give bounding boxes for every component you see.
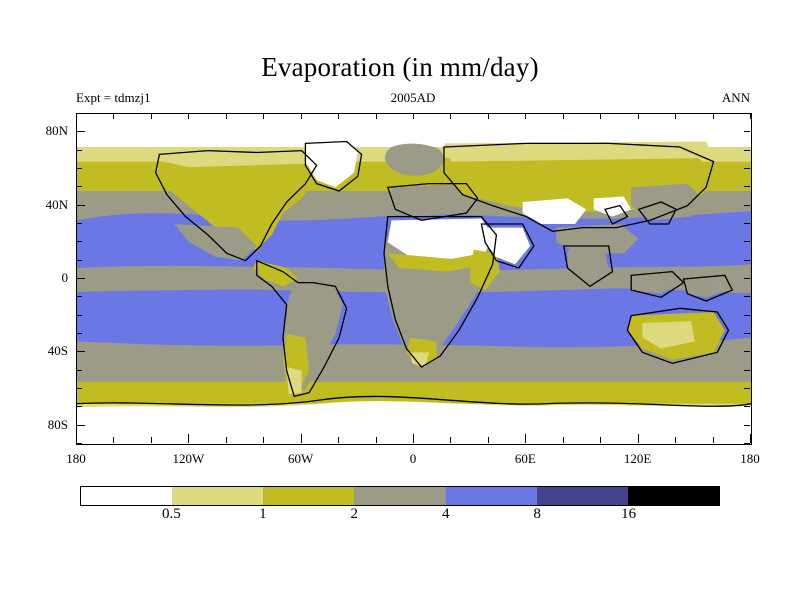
x-minor-tick	[113, 113, 114, 119]
x-minor-tick	[563, 113, 564, 119]
y-minor-tick	[744, 315, 750, 316]
y-minor-tick	[76, 186, 82, 187]
x-minor-tick	[226, 437, 227, 443]
y-minor-tick	[744, 406, 750, 407]
antarctica-fill	[77, 401, 751, 444]
colorbar-band[interactable]	[172, 487, 263, 505]
colorbar-tick-label: 0.5	[162, 506, 181, 523]
y-minor-tick	[744, 186, 750, 187]
y-axis-label: 0	[62, 270, 69, 286]
x-minor-tick	[338, 113, 339, 119]
y-minor-tick	[76, 388, 82, 389]
colorbar-band[interactable]	[263, 487, 354, 505]
map-plot-area	[76, 113, 752, 445]
season-label: ANN	[722, 90, 750, 106]
y-axis-label: 40S	[48, 343, 68, 359]
y-minor-tick	[76, 113, 82, 114]
y-major-tick	[76, 205, 85, 206]
y-minor-tick	[76, 223, 82, 224]
x-major-tick	[638, 434, 639, 443]
x-axis-label: 60E	[515, 451, 536, 467]
colorbar-band[interactable]	[537, 487, 628, 505]
x-axis-label: 120E	[624, 451, 651, 467]
y-minor-tick	[744, 296, 750, 297]
x-axis-label: 120W	[172, 451, 204, 467]
x-minor-tick	[151, 437, 152, 443]
y-minor-tick	[76, 370, 82, 371]
x-major-tick	[76, 434, 77, 443]
y-minor-tick	[744, 131, 750, 132]
y-minor-tick	[76, 260, 82, 261]
x-minor-tick	[188, 113, 189, 119]
y-minor-tick	[744, 150, 750, 151]
y-minor-tick	[744, 241, 750, 242]
colorbar-band[interactable]	[81, 487, 172, 505]
y-axis-label: 40N	[46, 197, 68, 213]
y-minor-tick	[76, 168, 82, 169]
y-minor-tick	[744, 223, 750, 224]
patagonia-fill	[287, 367, 302, 395]
y-minor-tick	[744, 205, 750, 206]
y-minor-tick	[744, 388, 750, 389]
x-axis-label: 60W	[288, 451, 313, 467]
y-minor-tick	[744, 425, 750, 426]
x-minor-tick	[750, 113, 751, 119]
x-minor-tick	[376, 437, 377, 443]
x-minor-tick	[263, 113, 264, 119]
x-minor-tick	[450, 113, 451, 119]
x-minor-tick	[413, 113, 414, 119]
y-minor-tick	[744, 278, 750, 279]
y-minor-tick	[76, 443, 82, 444]
colorbar[interactable]	[80, 486, 720, 506]
x-minor-tick	[450, 437, 451, 443]
y-minor-tick	[744, 443, 750, 444]
figure-root: Evaporation (in mm/day) Expt = tdmzj1 20…	[0, 0, 800, 600]
y-minor-tick	[744, 370, 750, 371]
x-minor-tick	[600, 113, 601, 119]
colorbar-tick-label: 4	[442, 506, 450, 523]
y-major-tick	[76, 425, 85, 426]
map-canvas	[77, 114, 751, 444]
y-major-tick	[76, 278, 85, 279]
colorbar-tick-label: 2	[351, 506, 359, 523]
x-minor-tick	[563, 437, 564, 443]
y-major-tick	[76, 131, 85, 132]
y-minor-tick	[744, 351, 750, 352]
x-minor-tick	[488, 437, 489, 443]
colorbar-tick-label: 16	[621, 506, 636, 523]
evaporation-map-svg	[77, 114, 751, 444]
x-minor-tick	[713, 113, 714, 119]
y-minor-tick	[744, 113, 750, 114]
y-minor-tick	[76, 406, 82, 407]
x-minor-tick	[113, 437, 114, 443]
y-minor-tick	[76, 296, 82, 297]
x-minor-tick	[525, 113, 526, 119]
x-axis-label: 180	[740, 451, 760, 467]
x-minor-tick	[488, 113, 489, 119]
x-minor-tick	[713, 437, 714, 443]
x-minor-tick	[338, 437, 339, 443]
x-minor-tick	[226, 113, 227, 119]
y-major-tick	[76, 351, 85, 352]
x-major-tick	[188, 434, 189, 443]
y-minor-tick	[744, 168, 750, 169]
y-axis-label: 80N	[46, 123, 68, 139]
y-minor-tick	[76, 333, 82, 334]
x-minor-tick	[376, 113, 377, 119]
period-label: 2005AD	[391, 90, 436, 106]
y-minor-tick	[744, 333, 750, 334]
y-minor-tick	[744, 260, 750, 261]
x-minor-tick	[151, 113, 152, 119]
colorbar-band[interactable]	[354, 487, 445, 505]
y-minor-tick	[76, 241, 82, 242]
colorbar-band[interactable]	[446, 487, 537, 505]
page-title: Evaporation (in mm/day)	[0, 52, 800, 83]
y-minor-tick	[76, 150, 82, 151]
x-minor-tick	[263, 437, 264, 443]
x-minor-tick	[301, 113, 302, 119]
x-axis-label: 180	[66, 451, 86, 467]
x-minor-tick	[675, 113, 676, 119]
experiment-label: Expt = tdmzj1	[76, 90, 151, 106]
x-minor-tick	[675, 437, 676, 443]
colorbar-band[interactable]	[628, 487, 719, 505]
x-major-tick	[525, 434, 526, 443]
x-minor-tick	[600, 437, 601, 443]
x-major-tick	[750, 434, 751, 443]
y-minor-tick	[76, 315, 82, 316]
colorbar-tick-label: 1	[259, 506, 267, 523]
subtitle-row: Expt = tdmzj1 2005AD ANN	[76, 90, 750, 106]
x-major-tick	[413, 434, 414, 443]
x-major-tick	[301, 434, 302, 443]
x-axis-label: 0	[410, 451, 417, 467]
x-minor-tick	[638, 113, 639, 119]
y-axis-label: 80S	[48, 417, 68, 433]
colorbar-tick-label: 8	[533, 506, 541, 523]
